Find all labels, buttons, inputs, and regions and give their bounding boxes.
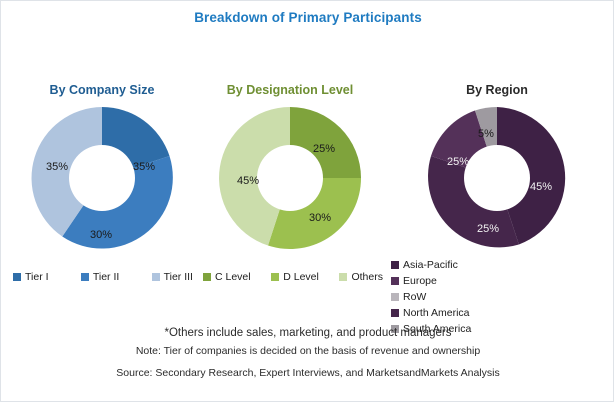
legend-item-c-level[interactable]: C Level	[203, 271, 251, 283]
donut-hole-company	[69, 145, 135, 211]
note-source: Source: Secondary Research, Expert Inter…	[1, 365, 614, 381]
legend-label: Tier II	[93, 271, 119, 283]
legend-item-others[interactable]: Others	[339, 271, 383, 283]
legend-designation-level: C Level D Level Others	[203, 271, 383, 283]
legend-item-europe[interactable]: Europe	[391, 275, 503, 287]
legend-label: C Level	[215, 271, 251, 283]
note-tier: Note: Tier of companies is decided on th…	[1, 343, 614, 359]
legend-label: Tier I	[25, 271, 49, 283]
slice-label-row: 5%	[478, 128, 494, 140]
legend-label: Tier III	[164, 271, 193, 283]
slice-label-d-level: 30%	[309, 212, 331, 224]
slide-canvas: Breakdown of Primary Participants By Com…	[0, 0, 614, 402]
donut-hole-region	[464, 145, 530, 211]
chart-by-company-size: By Company Size 35% 30% 35%	[9, 83, 195, 253]
legend-label: D Level	[283, 271, 319, 283]
legend-label: Europe	[403, 275, 437, 287]
footer-notes: *Others include sales, marketing, and pr…	[1, 325, 614, 381]
legend-item-tier-1[interactable]: Tier I	[13, 271, 49, 283]
legend-item-row[interactable]: RoW	[391, 291, 503, 303]
legend-item-tier-3[interactable]: Tier III	[152, 271, 193, 283]
legend-swatch-icon	[391, 261, 399, 269]
slice-label-north-america: 25%	[477, 223, 499, 235]
slice-label-tier-3: 35%	[46, 161, 68, 173]
slice-label-c-level: 25%	[313, 143, 335, 155]
chart-title-region: By Region	[387, 83, 607, 97]
chart-by-region: By Region 45% 25% 25% 5%	[387, 83, 607, 253]
legend-swatch-icon	[271, 273, 279, 281]
slice-label-others: 45%	[237, 175, 259, 187]
chart-title-designation-level: By Designation Level	[197, 83, 383, 97]
donut-region: 45% 25% 25% 5%	[422, 103, 572, 253]
legend-swatch-icon	[13, 273, 21, 281]
legend-item-asia-pacific[interactable]: Asia-Pacific	[391, 259, 503, 271]
legend-item-d-level[interactable]: D Level	[271, 271, 319, 283]
legend-swatch-icon	[391, 309, 399, 317]
legend-label: Asia-Pacific	[403, 259, 458, 271]
legend-swatch-icon	[152, 273, 160, 281]
slice-label-asia-pacific: 45%	[530, 181, 552, 193]
chart-title-company-size: By Company Size	[9, 83, 195, 97]
chart-by-designation-level: By Designation Level 25% 30% 45%	[197, 83, 383, 253]
legend-item-north-america[interactable]: North America	[391, 307, 495, 319]
legend-label: RoW	[403, 291, 426, 303]
legend-swatch-icon	[339, 273, 347, 281]
legend-label: Others	[351, 271, 383, 283]
legend-column-left: Asia-Pacific Europe RoW	[391, 259, 503, 307]
donut-company-size: 35% 30% 35%	[27, 103, 177, 253]
legend-swatch-icon	[203, 273, 211, 281]
legend-item-tier-2[interactable]: Tier II	[81, 271, 119, 283]
slice-label-tier-2: 30%	[90, 229, 112, 241]
donut-designation-level: 25% 30% 45%	[215, 103, 365, 253]
legend-row: Tier I Tier II Tier III	[13, 271, 193, 283]
legend-swatch-icon	[391, 277, 399, 285]
legend-company-size: Tier I Tier II Tier III	[13, 271, 193, 283]
legend-label: North America	[403, 307, 470, 319]
legend-swatch-icon	[391, 293, 399, 301]
legend-row: C Level D Level Others	[203, 271, 383, 283]
page-title: Breakdown of Primary Participants	[1, 10, 614, 25]
note-others: *Others include sales, marketing, and pr…	[1, 325, 614, 343]
legend-swatch-icon	[81, 273, 89, 281]
slice-label-europe: 25%	[447, 156, 469, 168]
slice-label-tier-1: 35%	[133, 161, 155, 173]
